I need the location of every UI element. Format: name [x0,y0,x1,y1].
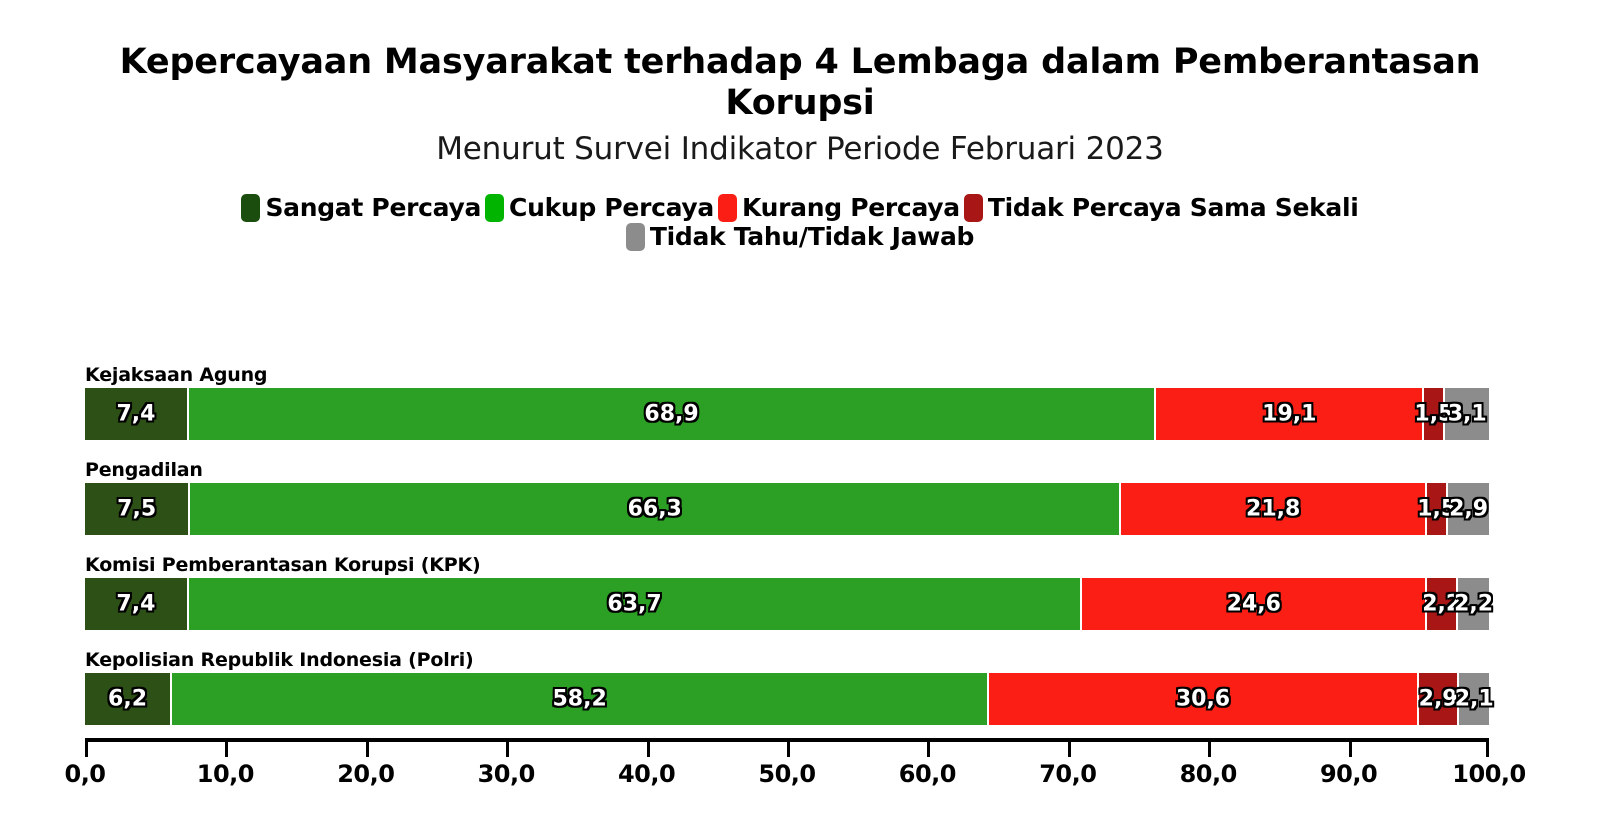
stacked-bar: 6,258,230,62,92,1 [85,673,1489,725]
bar-value-label: 24,6 [1227,592,1281,617]
bar-value-label: 68,9 [644,402,698,427]
x-axis-tick [647,742,650,757]
bar-segment[interactable]: 2,2 [1458,578,1489,630]
x-axis-tick-label: 40,0 [618,760,675,788]
stacked-bar: 7,566,321,81,52,9 [85,483,1489,535]
legend-label: Cukup Percaya [509,193,714,222]
legend-label: Tidak Percaya Sama Sekali [988,193,1359,222]
legend-label: Tidak Tahu/Tidak Jawab [650,222,974,251]
bar-value-label: 2,2 [1454,592,1493,617]
bar-value-label: 63,7 [607,592,661,617]
bar-segment[interactable]: 2,9 [1448,483,1489,535]
x-axis-tick-label: 10,0 [197,760,254,788]
x-axis-tick [1486,742,1489,757]
x-axis-tick [787,742,790,757]
chart-plot-area: Kejaksaan Agung7,468,919,11,53,1Pengadil… [0,350,1600,818]
bar-value-label: 6,2 [108,687,147,712]
x-axis: 0,010,020,030,040,050,060,070,080,090,01… [85,738,1489,739]
category-label: Kejaksaan Agung [85,364,267,386]
bar-segment[interactable]: 1,5 [1427,483,1448,535]
x-axis-tick-label: 30,0 [478,760,535,788]
x-axis-tick [1208,742,1211,757]
bar-value-label: 30,6 [1176,687,1230,712]
legend-swatch-icon [718,194,737,222]
legend-label: Sangat Percaya [265,193,481,222]
bar-value-label: 2,9 [1449,497,1488,522]
bar-value-label: 7,4 [116,402,155,427]
bar-value-label: 66,3 [628,497,682,522]
legend-item-tidak-percaya-sama-sekali[interactable]: Tidak Percaya Sama Sekali [964,193,1359,223]
bar-value-label: 2,9 [1419,687,1458,712]
legend-item-tidak-tahu-tidak-jawab[interactable]: Tidak Tahu/Tidak Jawab [626,222,974,252]
x-axis-tick [366,742,369,757]
bar-segment[interactable]: 1,5 [1424,388,1445,440]
x-axis-tick [1349,742,1352,757]
bar-value-label: 7,4 [116,592,155,617]
bar-value-label: 3,1 [1448,402,1487,427]
x-axis-tick-label: 80,0 [1180,760,1237,788]
legend-item-cukup-percaya[interactable]: Cukup Percaya [485,193,714,223]
bar-segment[interactable]: 30,6 [989,673,1419,725]
bar-segment[interactable]: 7,5 [85,483,190,535]
bar-value-label: 21,8 [1246,497,1300,522]
bar-segment[interactable]: 68,9 [189,388,1156,440]
x-axis-tick-label: 50,0 [758,760,815,788]
bar-segment[interactable]: 2,9 [1419,673,1460,725]
chart-title: Kepercayaan Masyarakat terhadap 4 Lembag… [100,42,1500,125]
x-axis-tick [85,742,88,757]
x-axis-tick-label: 70,0 [1039,760,1096,788]
legend-item-kurang-percaya[interactable]: Kurang Percaya [718,193,960,223]
bar-segment[interactable]: 24,6 [1082,578,1427,630]
bar-segment[interactable]: 3,1 [1445,388,1489,440]
stacked-bar: 7,468,919,11,53,1 [85,388,1489,440]
bar-segment[interactable]: 7,4 [85,388,189,440]
bar-segment[interactable]: 63,7 [189,578,1082,630]
legend-row: Tidak Tahu/Tidak Jawab [90,222,1510,252]
category-label: Komisi Pemberantasan Korupsi (KPK) [85,554,481,576]
chart-legend: Sangat PercayaCukup PercayaKurang Percay… [0,193,1600,252]
category-label: Pengadilan [85,459,203,481]
bar-segment[interactable]: 58,2 [172,673,989,725]
legend-swatch-icon [964,194,983,222]
bar-segment[interactable]: 6,2 [85,673,172,725]
chart-subtitle: Menurut Survei Indikator Periode Februar… [0,131,1600,167]
bar-segment[interactable]: 21,8 [1121,483,1427,535]
bar-value-label: 2,1 [1455,687,1494,712]
category-label: Kepolisian Republik Indonesia (Polri) [85,649,474,671]
legend-swatch-icon [241,194,260,222]
legend-label: Kurang Percaya [742,193,960,222]
bar-value-label: 58,2 [552,687,606,712]
bar-value-label: 19,1 [1262,402,1316,427]
legend-swatch-icon [626,223,645,251]
legend-swatch-icon [485,194,504,222]
bar-value-label: 7,5 [117,497,156,522]
x-axis-tick [225,742,228,757]
title-block: Kepercayaan Masyarakat terhadap 4 Lembag… [0,0,1600,167]
x-axis-tick [506,742,509,757]
x-axis-tick-label: 60,0 [899,760,956,788]
legend-row: Sangat PercayaCukup PercayaKurang Percay… [90,193,1510,223]
x-axis-tick-label: 90,0 [1320,760,1377,788]
x-axis-tick-label: 100,0 [1452,760,1525,788]
x-axis-tick [927,742,930,757]
bar-segment[interactable]: 2,1 [1459,673,1488,725]
bar-segment[interactable]: 19,1 [1156,388,1424,440]
x-axis-tick [1068,742,1071,757]
legend-item-sangat-percaya[interactable]: Sangat Percaya [241,193,481,223]
bar-segment[interactable]: 66,3 [190,483,1121,535]
bar-segment[interactable]: 7,4 [85,578,189,630]
x-axis-tick-label: 0,0 [64,760,105,788]
x-axis-tick-label: 20,0 [337,760,394,788]
stacked-bar: 7,463,724,62,22,2 [85,578,1489,630]
